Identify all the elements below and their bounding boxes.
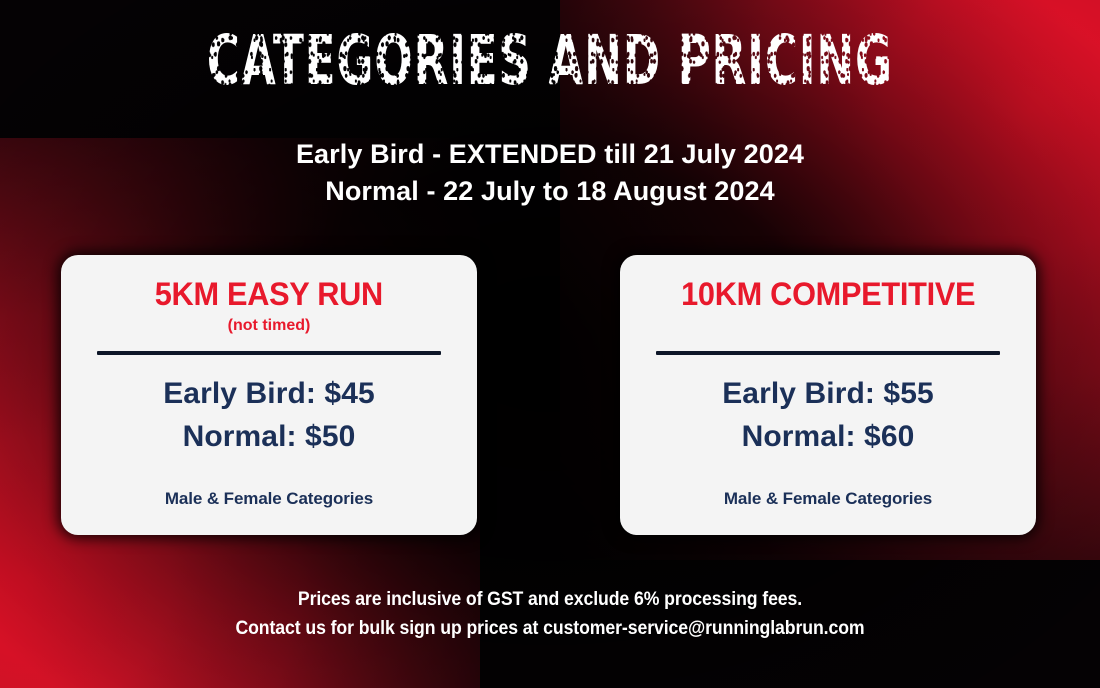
card-note-5km: Male & Female Categories <box>165 489 373 509</box>
pricing-period-block: Early Bird - EXTENDED till 21 July 2024 … <box>0 136 1100 211</box>
card-prices-5km: Early Bird: $45 Normal: $50 <box>163 373 375 458</box>
card-title-10km: 10KM COMPETITIVE <box>681 277 975 312</box>
price-normal-10km: Normal: $60 <box>722 416 934 459</box>
early-bird-period: Early Bird - EXTENDED till 21 July 2024 <box>0 136 1100 173</box>
footer-contact-note: Contact us for bulk sign up prices at cu… <box>39 615 1062 644</box>
poster-title: CATEGORIES AND PRICING <box>207 26 893 96</box>
card-title-5km: 5KM EASY RUN <box>155 277 383 312</box>
pricing-card-10km[interactable]: 10KM COMPETITIVE Early Bird: $55 Normal:… <box>620 255 1036 535</box>
price-early-bird-10km: Early Bird: $55 <box>722 373 934 416</box>
price-normal-5km: Normal: $50 <box>163 416 375 459</box>
poster-title-container: CATEGORIES AND PRICING <box>0 26 1100 85</box>
pricing-poster: CATEGORIES AND PRICING Early Bird - EXTE… <box>0 0 1100 688</box>
card-note-10km: Male & Female Categories <box>724 489 932 509</box>
card-divider-5km <box>97 351 441 355</box>
pricing-cards: 5KM EASY RUN (not timed) Early Bird: $45… <box>0 255 1100 535</box>
footer-notes: Prices are inclusive of GST and exclude … <box>0 586 1100 644</box>
pricing-card-5km[interactable]: 5KM EASY RUN (not timed) Early Bird: $45… <box>61 255 477 535</box>
card-divider-10km <box>656 351 1000 355</box>
price-early-bird-5km: Early Bird: $45 <box>163 373 375 416</box>
footer-gst-note: Prices are inclusive of GST and exclude … <box>39 586 1062 615</box>
card-subtitle-5km: (not timed) <box>228 317 311 335</box>
normal-period: Normal - 22 July to 18 August 2024 <box>0 173 1100 210</box>
card-prices-10km: Early Bird: $55 Normal: $60 <box>722 373 934 458</box>
poster-content: CATEGORIES AND PRICING Early Bird - EXTE… <box>0 0 1100 688</box>
